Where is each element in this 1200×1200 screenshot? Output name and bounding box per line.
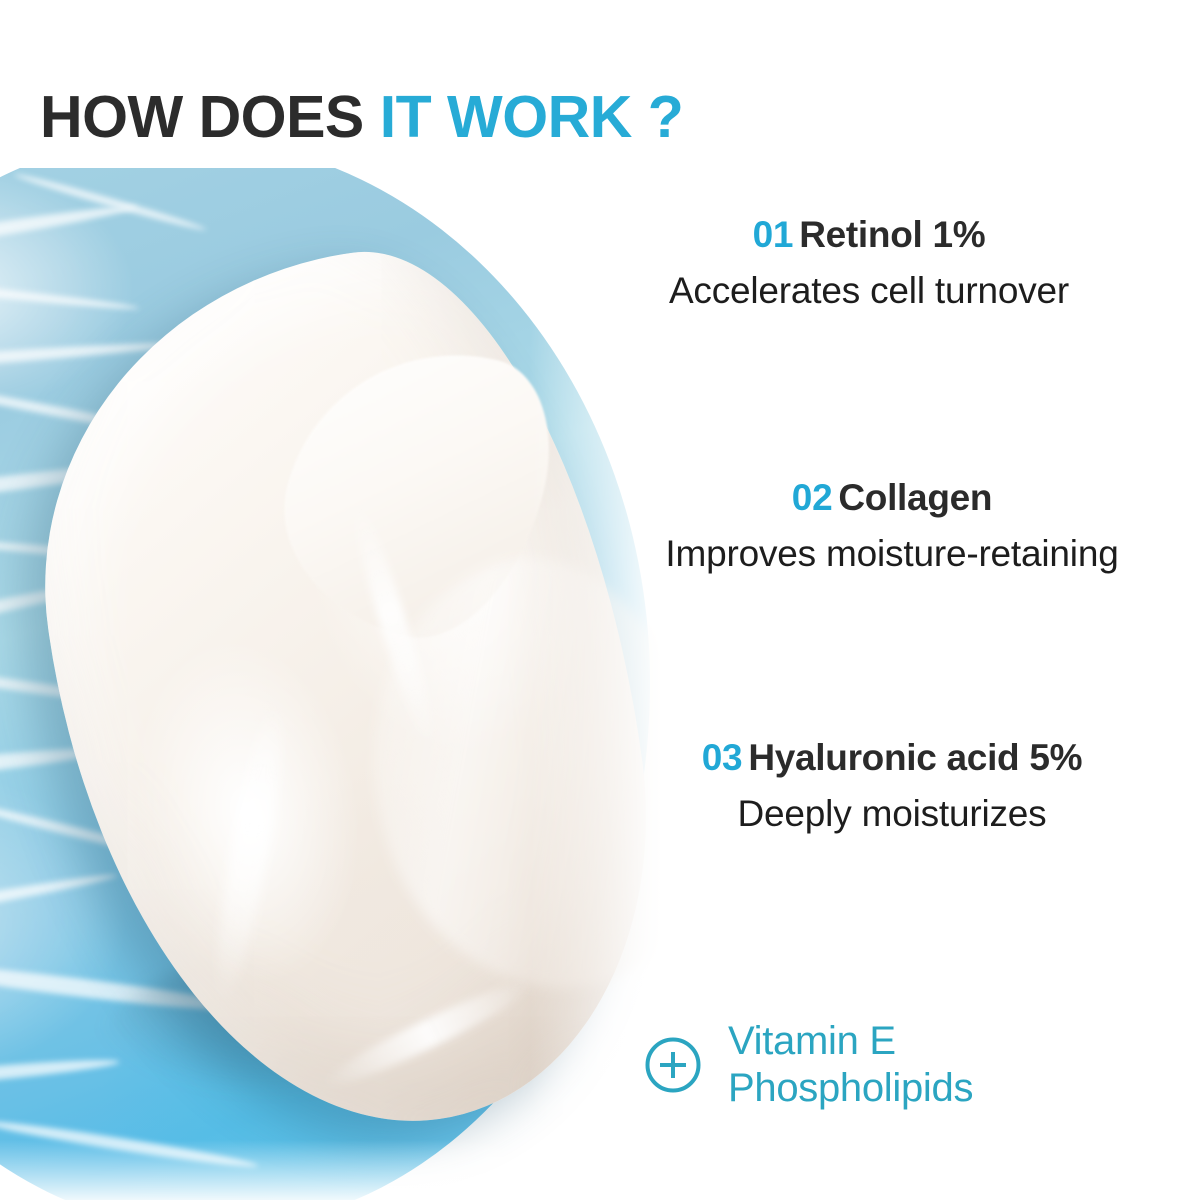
infographic-page: HOW DOES IT WORK ? 01Retinol 1% Accelera… xyxy=(0,0,1200,1200)
plus-circle-icon xyxy=(644,1036,702,1094)
photo-fade-bottom xyxy=(0,1140,700,1200)
ingredient-description-2: Improves moisture-retaining xyxy=(650,530,1134,579)
ingredient-description-1: Accelerates cell turnover xyxy=(604,267,1134,316)
bonus-ingredient-row: Vitamin E Phospholipids xyxy=(644,1018,973,1112)
page-title-accent-part: IT WORK ? xyxy=(380,84,684,150)
ingredient-number-1: 01 xyxy=(753,214,794,255)
ingredient-name-3: Hyaluronic acid 5% xyxy=(748,737,1082,778)
ingredient-name-1: Retinol 1% xyxy=(799,214,985,255)
product-photo xyxy=(0,168,700,1200)
ingredient-number-2: 02 xyxy=(792,477,833,518)
bonus-ingredient-label: Vitamin E Phospholipids xyxy=(728,1018,973,1112)
cream-highlight-bottom xyxy=(319,971,538,1097)
page-title: HOW DOES IT WORK ? xyxy=(40,88,683,147)
ingredient-name-2: Collagen xyxy=(838,477,992,518)
ingredient-item-1: 01Retinol 1% Accelerates cell turnover xyxy=(604,212,1134,316)
ingredient-number-3: 03 xyxy=(702,737,743,778)
cream-highlight-left xyxy=(206,702,294,1004)
ingredient-title-2: 02Collagen xyxy=(650,475,1134,520)
ingredient-description-3: Deeply moisturizes xyxy=(650,790,1134,839)
ingredient-title-1: 01Retinol 1% xyxy=(604,212,1134,257)
page-title-dark-part: HOW DOES xyxy=(40,84,380,150)
ingredient-item-2: 02Collagen Improves moisture-retaining xyxy=(650,475,1134,579)
ingredient-title-3: 03Hyaluronic acid 5% xyxy=(650,735,1134,780)
ingredient-item-3: 03Hyaluronic acid 5% Deeply moisturizes xyxy=(650,735,1134,839)
